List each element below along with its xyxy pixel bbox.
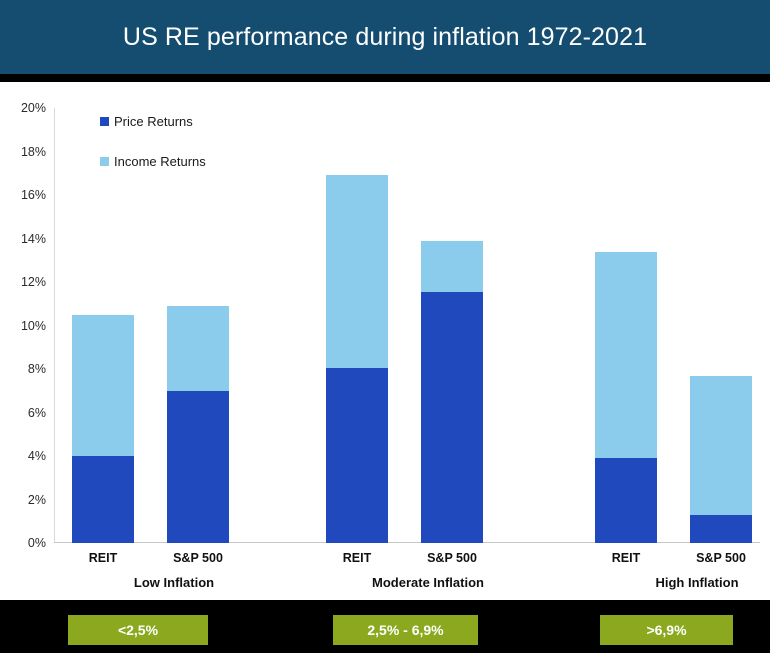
bar-segment-income-returns[interactable] — [167, 306, 229, 391]
bar-segment-price-returns[interactable] — [421, 292, 483, 543]
y-axis-tick: 4% — [28, 449, 46, 463]
y-axis-tick: 18% — [21, 145, 46, 159]
legend-item-label: Income Returns — [114, 154, 206, 169]
y-axis-tick: 8% — [28, 362, 46, 376]
x-axis-group-label: Low Inflation — [74, 575, 274, 590]
x-axis-series-label: REIT — [581, 551, 671, 565]
y-axis-tick: 2% — [28, 493, 46, 507]
bar-segment-price-returns[interactable] — [595, 458, 657, 543]
y-axis-tick: 16% — [21, 188, 46, 202]
y-axis-tick: 20% — [21, 101, 46, 115]
bar-stacked[interactable] — [421, 241, 483, 543]
bar-stacked[interactable] — [595, 252, 657, 543]
footer-badge: >6,9% — [600, 615, 733, 645]
legend-swatch-icon — [100, 157, 109, 166]
legend-item[interactable]: Price Returns — [100, 114, 206, 129]
y-axis-tick: 14% — [21, 232, 46, 246]
bar-segment-price-returns[interactable] — [326, 368, 388, 543]
legend-item[interactable]: Income Returns — [100, 154, 206, 169]
bar-segment-income-returns[interactable] — [72, 315, 134, 456]
x-axis-group-label: High Inflation — [597, 575, 770, 590]
bar-segment-income-returns[interactable] — [326, 175, 388, 367]
y-axis-tick: 10% — [21, 319, 46, 333]
footer-strip: <2,5%2,5% - 6,9%>6,9% — [0, 600, 770, 653]
bar-stacked[interactable] — [167, 306, 229, 543]
chart-card: 0%2%4%6%8%10%12%14%16%18%20% Price Retur… — [0, 82, 770, 600]
plot-area: 0%2%4%6%8%10%12%14%16%18%20% Price Retur… — [54, 108, 760, 543]
bar-segment-price-returns[interactable] — [72, 456, 134, 543]
bar-segment-price-returns[interactable] — [690, 515, 752, 543]
bar-stacked[interactable] — [690, 376, 752, 543]
x-axis-series-label: REIT — [312, 551, 402, 565]
footer-badge: 2,5% - 6,9% — [333, 615, 478, 645]
x-axis-series-label: S&P 500 — [407, 551, 497, 565]
legend-item-label: Price Returns — [114, 114, 193, 129]
bar-stacked[interactable] — [72, 315, 134, 543]
bar-segment-price-returns[interactable] — [167, 391, 229, 543]
chart-legend: Price ReturnsIncome Returns — [100, 114, 206, 194]
bar-segment-income-returns[interactable] — [595, 252, 657, 459]
bar-stacked[interactable] — [326, 175, 388, 543]
y-axis-tick: 0% — [28, 536, 46, 550]
x-axis-series-label: S&P 500 — [676, 551, 766, 565]
slide-page: US RE performance during inflation 1972-… — [0, 0, 770, 653]
bar-segment-income-returns[interactable] — [690, 376, 752, 515]
y-axis-tick: 6% — [28, 406, 46, 420]
footer-badge: <2,5% — [68, 615, 208, 645]
x-axis-group-label: Moderate Inflation — [328, 575, 528, 590]
x-axis-series-label: S&P 500 — [153, 551, 243, 565]
header-banner: US RE performance during inflation 1972-… — [0, 0, 770, 74]
page-title: US RE performance during inflation 1972-… — [123, 23, 647, 52]
x-axis-series-label: REIT — [58, 551, 148, 565]
bar-segment-income-returns[interactable] — [421, 241, 483, 292]
y-axis-tick: 12% — [21, 275, 46, 289]
legend-swatch-icon — [100, 117, 109, 126]
y-axis-line — [54, 108, 55, 543]
